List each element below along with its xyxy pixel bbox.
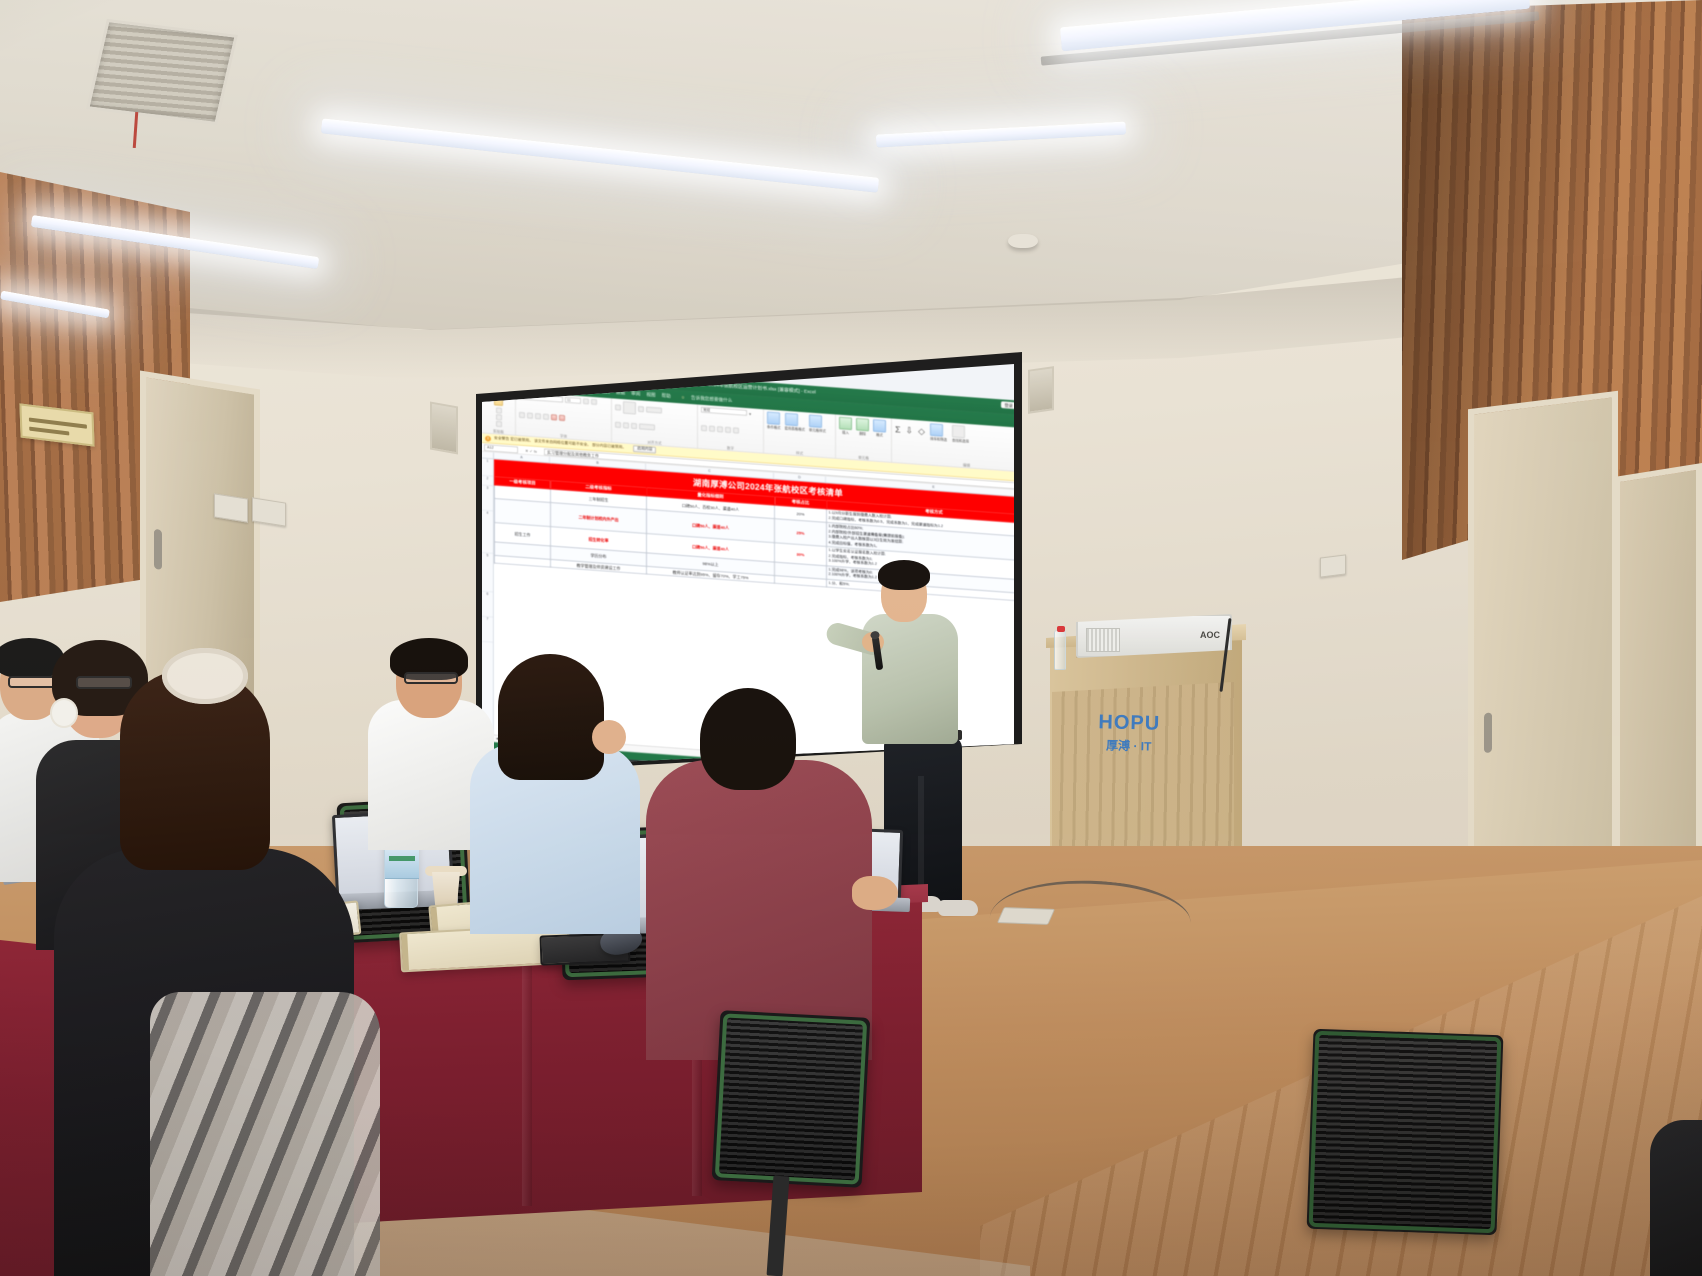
table-style-icon[interactable] — [785, 413, 798, 426]
wall-outlet-c[interactable] — [1320, 554, 1346, 577]
cut-icon[interactable] — [496, 407, 502, 413]
podium-logo-line1: HOPU — [1086, 711, 1173, 736]
decrease-font-icon[interactable] — [591, 399, 597, 405]
align-left-icon[interactable] — [615, 422, 621, 428]
audience-3-hair-clip — [162, 648, 248, 704]
comma-style-icon[interactable] — [717, 426, 723, 432]
fill-color-icon[interactable] — [551, 414, 557, 420]
chair-frame — [1309, 1031, 1502, 1233]
sort-filter-label: 排序和筛选 — [930, 437, 947, 442]
fx-icon[interactable]: fx — [534, 448, 537, 453]
row-header-column[interactable]: 1 2 3 4 5 6 7 — [482, 459, 494, 735]
excel-signin-label[interactable]: 登录 — [1001, 401, 1014, 409]
align-middle-icon[interactable] — [623, 401, 636, 414]
font-color-icon[interactable] — [559, 415, 565, 421]
chair-4[interactable] — [1307, 1029, 1504, 1236]
align-right-icon[interactable] — [631, 423, 637, 429]
cell-weight[interactable]: 25% — [775, 519, 827, 547]
align-top-icon[interactable] — [615, 404, 621, 410]
clear-icon[interactable]: ◇ — [918, 427, 925, 436]
increase-font-icon[interactable] — [583, 398, 589, 404]
align-bottom-icon[interactable] — [638, 406, 644, 412]
insert-cells-icon[interactable] — [839, 417, 852, 430]
tab-view[interactable]: 视图 — [646, 392, 655, 398]
audience-6-hand — [852, 876, 898, 910]
tab-review[interactable]: 审阅 — [631, 391, 640, 397]
fill-icon[interactable]: ⇩ — [906, 426, 914, 435]
ribbon-group-styles[interactable]: 条件格式 套用表格格式 单元格样式 样式 — [764, 409, 836, 458]
door-handle-right[interactable] — [1484, 712, 1492, 753]
table-style-label: 套用表格格式 — [785, 426, 805, 431]
tell-me-box[interactable]: 告诉我您想要做什么 — [691, 395, 732, 404]
presenter-hair — [878, 560, 930, 590]
cell-style-label: 单元格样式 — [809, 428, 826, 433]
row-header-3[interactable]: 3 — [482, 486, 493, 512]
projector-mount-left — [430, 402, 458, 455]
chevron-down-icon[interactable]: ▾ — [749, 411, 751, 416]
row-header-6[interactable]: 6 — [482, 592, 493, 618]
audience-4-glasses — [404, 672, 458, 684]
audience-2-glasses — [76, 676, 132, 689]
hvac-vent — [86, 19, 238, 125]
format-cells-icon[interactable] — [873, 419, 886, 432]
floor-outlet-plate[interactable] — [997, 907, 1055, 925]
water-bottle-podium — [1054, 630, 1066, 670]
select-all-corner[interactable] — [482, 452, 494, 459]
row-header-1[interactable]: 1 — [482, 459, 493, 477]
find-select-label: 查找和选择 — [952, 438, 969, 443]
meeting-room-photo: 2024年张航校区运营计划书.xlsx [兼容模式] - Excel 登录 – … — [0, 0, 1702, 1276]
format-painter-icon[interactable] — [496, 421, 502, 427]
font-size-box[interactable]: 11 — [565, 397, 581, 404]
audience-5-hair — [498, 654, 604, 780]
row-header-7[interactable]: 7 — [482, 617, 493, 643]
projector-mount-right — [1028, 366, 1054, 414]
audience-2-earring — [52, 700, 76, 726]
security-warning-icon: ! — [485, 435, 491, 441]
merge-center-icon[interactable] — [639, 424, 655, 431]
cell-style-icon[interactable] — [809, 414, 822, 427]
format-cells-label: 格式 — [876, 433, 883, 437]
sort-filter-icon[interactable] — [930, 423, 943, 436]
presenter-shoe-right — [938, 900, 978, 916]
audience-5-hand — [592, 720, 626, 754]
copy-icon[interactable] — [496, 414, 502, 420]
align-center-icon[interactable] — [623, 423, 629, 429]
notebook-spine — [401, 934, 409, 970]
italic-icon[interactable] — [527, 412, 533, 418]
conditional-format-icon[interactable] — [767, 411, 780, 424]
percent-icon[interactable] — [709, 425, 715, 431]
decrease-decimal-icon[interactable] — [733, 427, 739, 433]
chair-3[interactable] — [712, 1010, 871, 1188]
confirm-icon[interactable]: ✓ — [529, 448, 532, 453]
audience-3-skirt — [150, 992, 380, 1276]
row-header-4[interactable]: 4 — [482, 511, 493, 554]
find-select-icon[interactable] — [952, 425, 965, 438]
speaker-grille-icon — [1086, 628, 1120, 652]
ribbon-group-number[interactable]: 常规 ▾ 数字 — [698, 405, 764, 453]
bold-icon[interactable] — [519, 412, 525, 418]
wrap-text-icon[interactable] — [646, 406, 662, 413]
currency-icon[interactable] — [701, 425, 707, 431]
delete-cells-label: 删除 — [859, 432, 866, 436]
number-format-box[interactable]: 常规 — [701, 407, 747, 416]
podium-logo-line2: 厚溥 · IT — [1086, 736, 1172, 755]
bottle-label — [385, 845, 419, 879]
row-header-5[interactable]: 5 — [482, 553, 493, 592]
tab-help[interactable]: 帮助 — [662, 393, 671, 399]
ribbon-group-cells[interactable]: 插入 删除 格式 单元格 — [836, 415, 892, 462]
audience-6-hair — [700, 688, 796, 790]
av-device-brand: AOC — [1200, 630, 1220, 640]
insert-cells-label: 插入 — [842, 430, 849, 434]
door-handle-left[interactable] — [154, 529, 162, 570]
autosum-icon[interactable]: Σ — [895, 425, 901, 434]
increase-decimal-icon[interactable] — [725, 427, 731, 433]
conditional-format-label: 条件格式 — [767, 425, 781, 430]
delete-cells-icon[interactable] — [856, 418, 869, 431]
ribbon-group-alignment[interactable]: 对齐方式 — [612, 398, 698, 448]
lightbulb-icon[interactable]: ☼ — [681, 394, 685, 400]
smoke-detector — [1008, 234, 1038, 248]
audience-7-top — [1650, 1120, 1702, 1276]
podium-logo: HOPU 厚溥 · IT — [1085, 711, 1172, 761]
ribbon-group-font[interactable]: 宋体 11 字体 — [516, 391, 612, 441]
enable-content-button[interactable]: 启用内容 — [633, 445, 656, 454]
cancel-icon[interactable]: ✕ — [525, 448, 528, 453]
underline-icon[interactable] — [535, 413, 541, 419]
chair-frame — [715, 1013, 867, 1184]
border-icon[interactable] — [543, 413, 549, 419]
